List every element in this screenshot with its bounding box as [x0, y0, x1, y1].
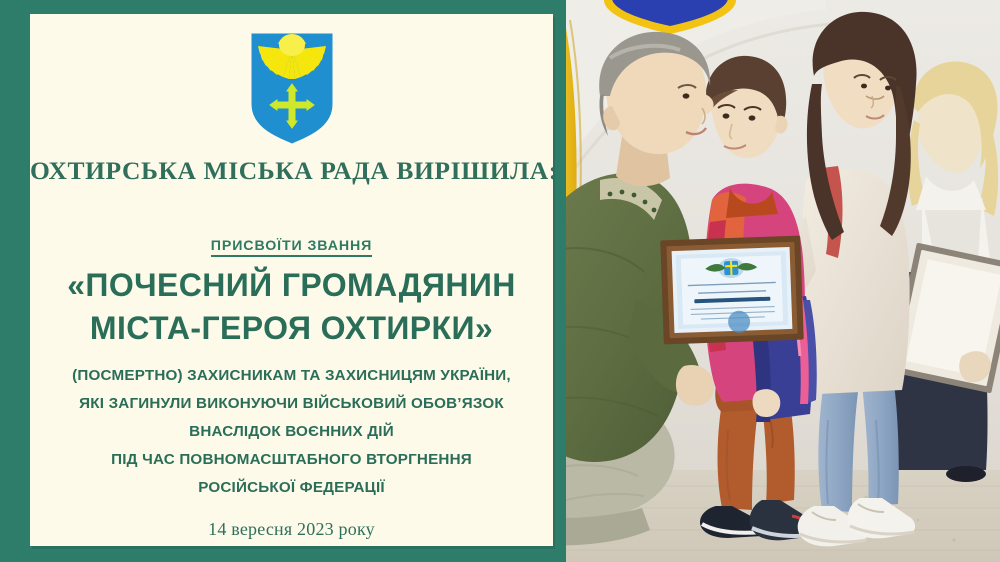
cream-panel: ОХТИРСЬКА МІСЬКА РАДА ВИРІШИЛА: ПРИСВОЇТ… [30, 14, 553, 546]
award-ceremony-photo [566, 0, 1000, 562]
subheading-text: ПРИСВОЇТИ ЗВАННЯ [211, 238, 373, 257]
award-title-line-1: «ПОЧЕСНИЙ ГРОМАДЯНИН [30, 264, 553, 307]
page-title: ОХТИРСЬКА МІСЬКА РАДА ВИРІШИЛА: [30, 156, 553, 186]
award-description-line-3: ВНАСЛІДОК ВОЄННИХ ДІЙ [30, 418, 553, 446]
decision-date: 14 вересня 2023 року [30, 519, 553, 540]
award-description-line-2: ЯКІ ЗАГИНУЛИ ВИКОНУЮЧИ ВІЙСЬКОВИЙ ОБОВ’Я… [30, 390, 553, 418]
award-description: (ПОСМЕРТНО) ЗАХИСНИКАМ ТА ЗАХИСНИЦЯМ УКР… [30, 362, 553, 502]
award-title-line-2: МІСТА-ГЕРОЯ ОХТИРКИ» [30, 307, 553, 350]
coat-of-arms [30, 30, 553, 152]
award-description-line-4: ПІД ЧАС ПОВНОМАСШТАБНОГО ВТОРГНЕННЯ [30, 446, 553, 474]
framed-certificate [660, 236, 804, 345]
subheading: ПРИСВОЇТИ ЗВАННЯ [30, 238, 553, 254]
award-title: «ПОЧЕСНИЙ ГРОМАДЯНИН МІСТА-ГЕРОЯ ОХТИРКИ… [30, 264, 553, 350]
left-green-frame: ОХТИРСЬКА МІСЬКА РАДА ВИРІШИЛА: ПРИСВОЇТ… [0, 0, 566, 562]
okhtyrka-coat-of-arms-icon [248, 30, 336, 148]
ceremony-scene-illustration [566, 0, 1000, 562]
award-description-line-5: РОСІЙСЬКОЇ ФЕДЕРАЦІЇ [30, 474, 553, 502]
award-description-line-1: (ПОСМЕРТНО) ЗАХИСНИКАМ ТА ЗАХИСНИЦЯМ УКР… [30, 362, 553, 390]
announcement-graphic: ОХТИРСЬКА МІСЬКА РАДА ВИРІШИЛА: ПРИСВОЇТ… [0, 0, 1000, 562]
